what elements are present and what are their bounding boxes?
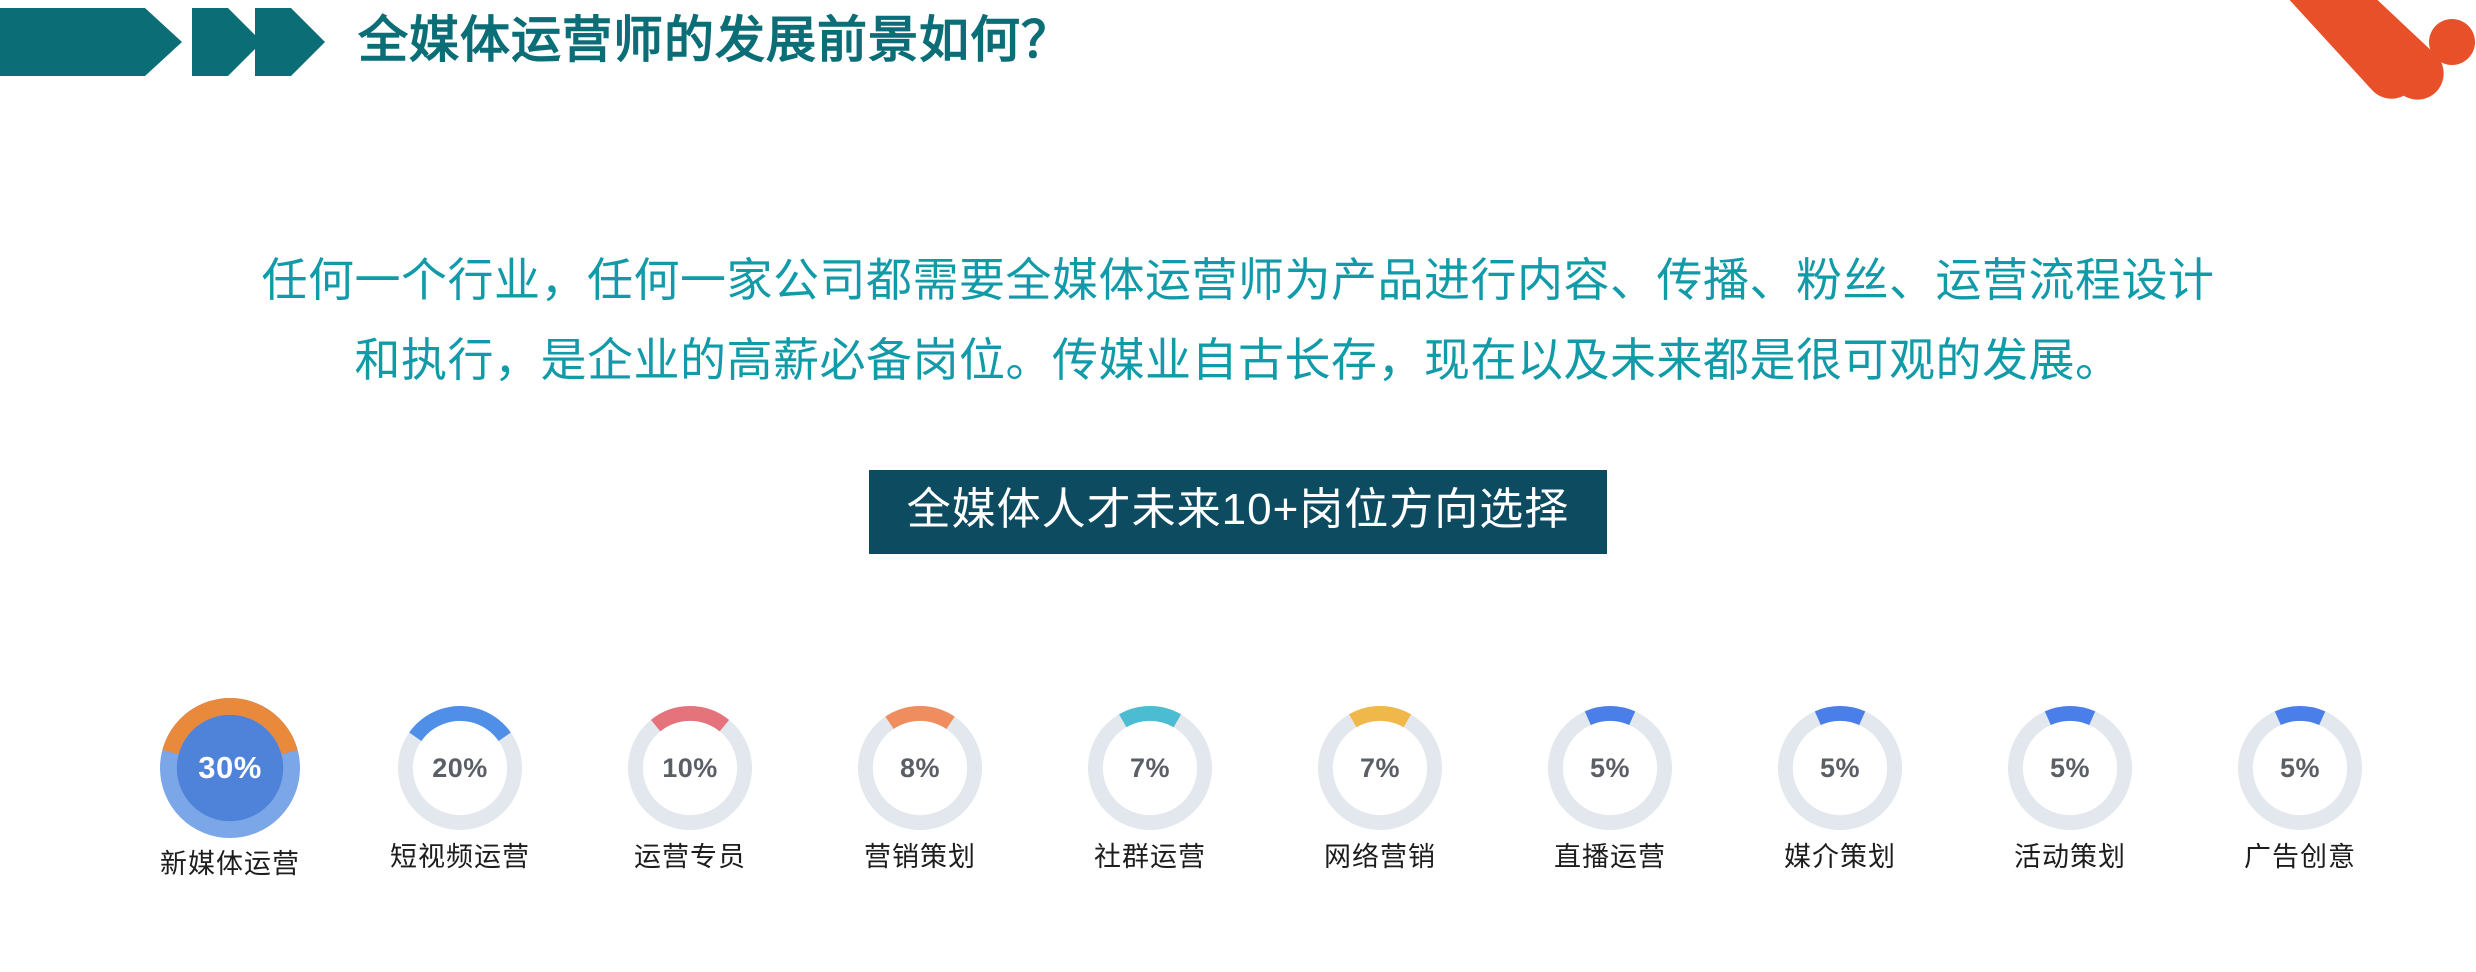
body-copy-line-2: 和执行，是企业的高薪必备岗位。传媒业自古长存，现在以及未来都是很可观的发展。	[0, 320, 2476, 400]
donut-gauge: 20%	[398, 706, 522, 830]
donut-value: 7%	[1318, 706, 1442, 830]
donut-value: 5%	[2008, 706, 2132, 830]
body-copy: 任何一个行业，任何一家公司都需要全媒体运营师为产品进行内容、传播、粉丝、运营流程…	[0, 240, 2476, 400]
donut-label: 运营专员	[634, 840, 746, 874]
donut-value: 5%	[2238, 706, 2362, 830]
donut-chart-row: 30%新媒体运营20%短视频运营10%运营专员8%营销策划7%社群运营7%网络营…	[140, 706, 2390, 906]
section-badge: 全媒体人才未来10+岗位方向选择	[869, 470, 1608, 554]
donut-label: 社群运营	[1094, 840, 1206, 874]
page-title: 全媒体运营师的发展前景如何？	[358, 6, 1072, 74]
donut-item[interactable]: 20%短视频运营	[370, 706, 550, 874]
donut-gauge: 8%	[858, 706, 982, 830]
donut-label: 短视频运营	[390, 840, 530, 874]
donut-gauge: 7%	[1088, 706, 1212, 830]
donut-item[interactable]: 5%活动策划	[1980, 706, 2160, 874]
donut-gauge: 10%	[628, 706, 752, 830]
donut-label: 媒介策划	[1784, 840, 1896, 874]
donut-value: 8%	[858, 706, 982, 830]
donut-label: 直播运营	[1554, 840, 1666, 874]
donut-value: 5%	[1548, 706, 1672, 830]
donut-label: 活动策划	[2014, 840, 2126, 874]
donut-item[interactable]: 10%运营专员	[600, 706, 780, 874]
donut-item[interactable]: 7%网络营销	[1290, 706, 1470, 874]
slide-root: 全媒体运营师的发展前景如何？ 任何一个行业，任何一家公司都需要全媒体运营师为产品…	[0, 0, 2476, 972]
donut-label: 新媒体运营	[160, 847, 300, 881]
orange-diagonal-logo-icon	[2236, 0, 2476, 145]
donut-gauge: 5%	[1778, 706, 1902, 830]
donut-item[interactable]: 30%新媒体运营	[140, 706, 320, 881]
donut-value: 30%	[160, 698, 300, 838]
donut-item[interactable]: 5%媒介策划	[1750, 706, 1930, 874]
donut-label: 营销策划	[864, 840, 976, 874]
donut-item[interactable]: 5%直播运营	[1520, 706, 1700, 874]
donut-gauge: 30%	[160, 698, 300, 838]
badge-container: 全媒体人才未来10+岗位方向选择	[0, 470, 2476, 554]
donut-gauge: 5%	[2238, 706, 2362, 830]
donut-item[interactable]: 7%社群运营	[1060, 706, 1240, 874]
donut-gauge: 7%	[1318, 706, 1442, 830]
donut-item[interactable]: 5%广告创意	[2210, 706, 2390, 874]
donut-gauge: 5%	[1548, 706, 1672, 830]
arrow-chevrons-icon	[0, 8, 330, 76]
donut-gauge: 5%	[2008, 706, 2132, 830]
body-copy-line-1: 任何一个行业，任何一家公司都需要全媒体运营师为产品进行内容、传播、粉丝、运营流程…	[0, 240, 2476, 320]
donut-value: 20%	[398, 706, 522, 830]
donut-item[interactable]: 8%营销策划	[830, 706, 1010, 874]
donut-value: 5%	[1778, 706, 1902, 830]
header: 全媒体运营师的发展前景如何？	[0, 0, 2476, 104]
donut-value: 10%	[628, 706, 752, 830]
donut-label: 网络营销	[1324, 840, 1436, 874]
donut-label: 广告创意	[2244, 840, 2356, 874]
donut-value: 7%	[1088, 706, 1212, 830]
